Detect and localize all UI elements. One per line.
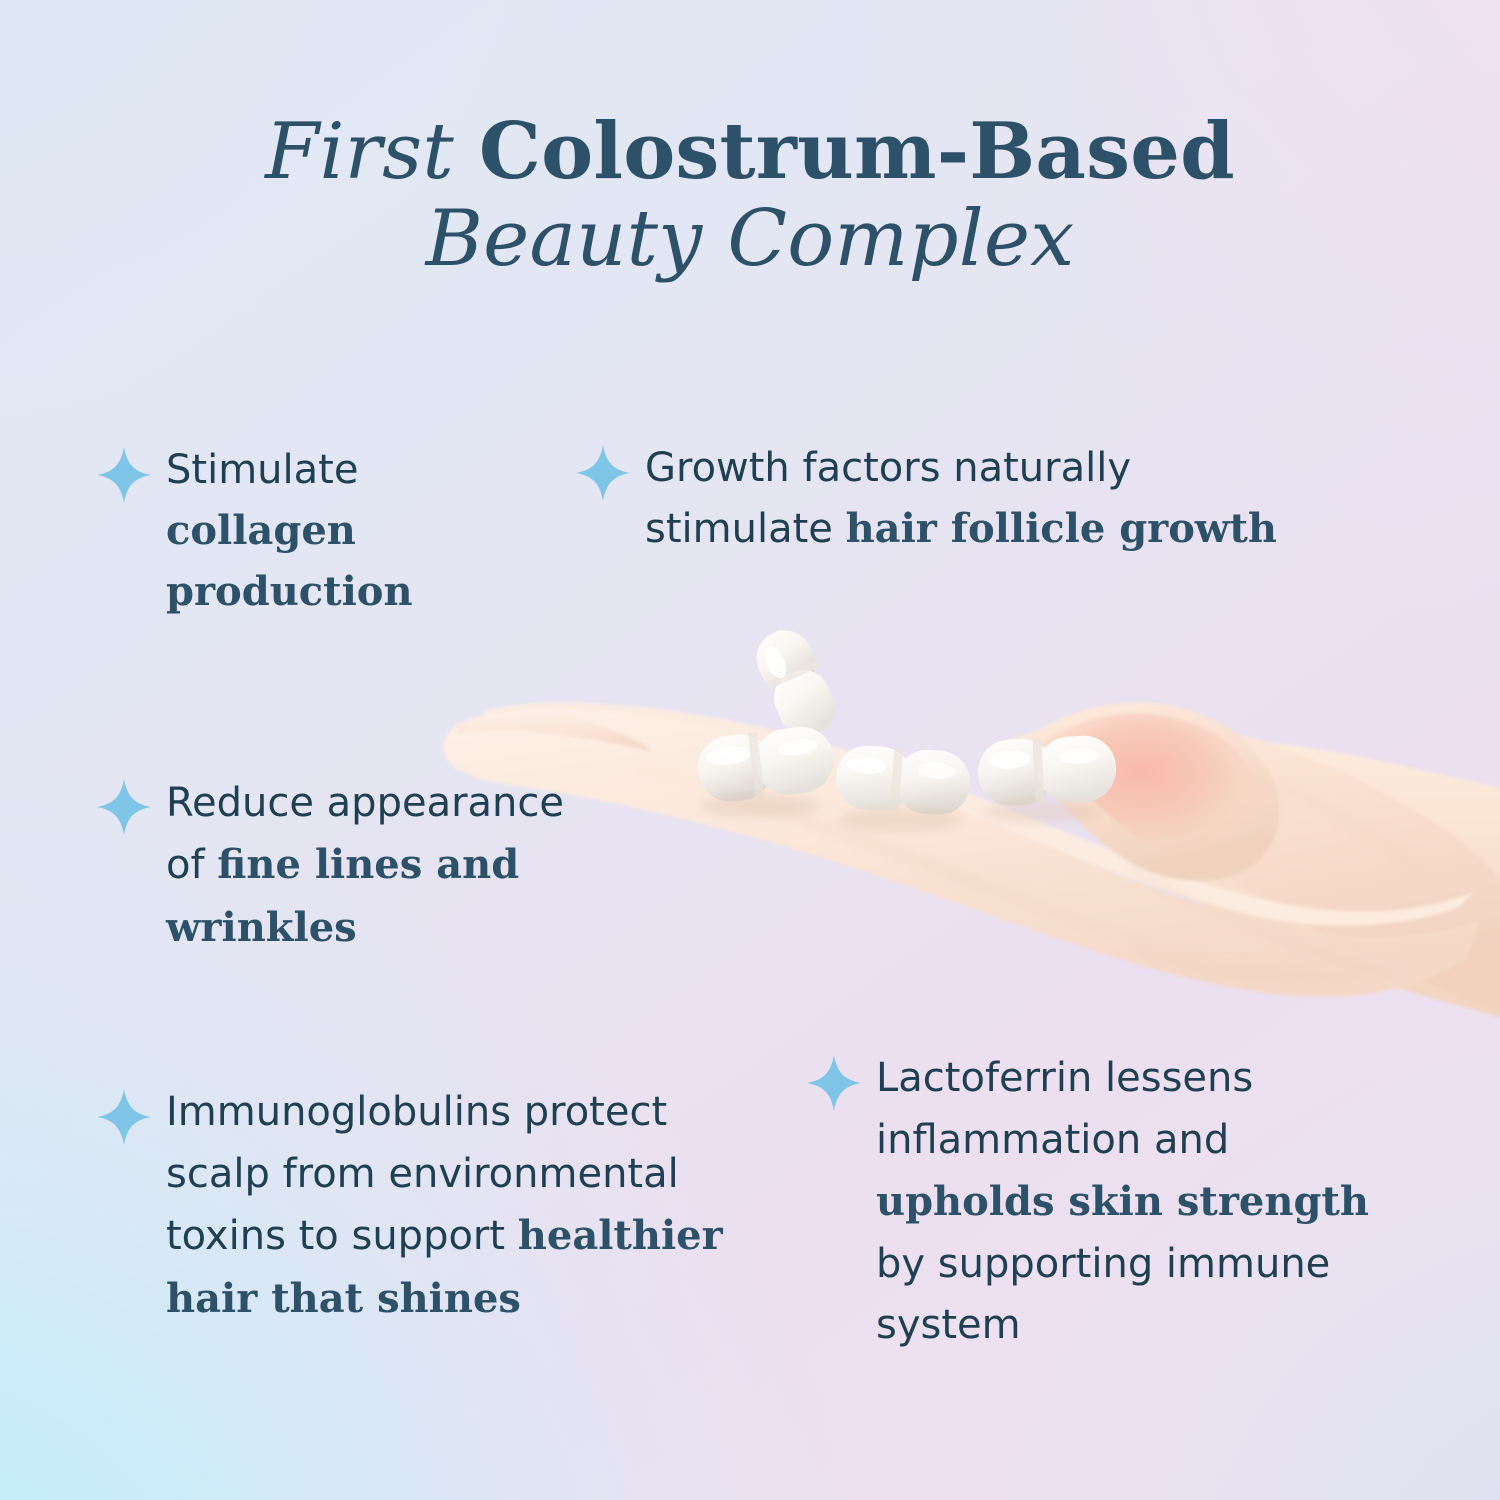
page-title-words-beauty-complex: Beauty Complex (426, 194, 1075, 284)
benefit-item-collagen-production: Stimulate collagen production (96, 440, 516, 622)
benefit-text: Growth factors naturally stimulate hair … (645, 438, 1295, 560)
page-title-word-first: First (265, 107, 479, 197)
benefit-text-emphasis: hair follicle growth (846, 505, 1277, 552)
sparkle-icon (96, 446, 152, 504)
sparkle-icon (96, 778, 152, 836)
benefit-text-emphasis: upholds skin strength (876, 1178, 1369, 1225)
benefit-text: Stimulate collagen production (166, 440, 516, 622)
benefit-item-hair-follicle-growth: Growth factors naturally stimulate hair … (575, 438, 1295, 560)
page-title: First Colostrum-Based Beauty Complex (0, 108, 1500, 284)
page-title-word-colostrum-based: Colostrum-Based (479, 106, 1235, 197)
benefit-text-emphasis: fine lines and wrinkles (166, 841, 519, 950)
benefit-item-skin-strength: Lactoferrin lessens inflammation and uph… (806, 1048, 1376, 1357)
benefit-item-healthier-hair: Immunoglobulins protect scalp from envir… (96, 1082, 746, 1330)
infographic-canvas: First Colostrum-Based Beauty Complex (0, 0, 1500, 1500)
benefit-text: Lactoferrin lessens inflammation and uph… (876, 1048, 1376, 1357)
benefit-text-emphasis: collagen production (166, 507, 413, 615)
benefit-text: Reduce appearance of fine lines and wrin… (166, 772, 606, 959)
page-title-line-2: Beauty Complex (0, 196, 1500, 283)
benefit-text-tail: by supporting immune system (876, 1241, 1330, 1349)
page-title-line-1: First Colostrum-Based (0, 108, 1500, 196)
sparkle-icon (806, 1054, 862, 1112)
benefit-text-plain: Stimulate (166, 447, 358, 493)
benefit-text-plain: Lactoferrin lessens inflammation and (876, 1055, 1253, 1163)
benefit-item-fine-lines-wrinkles: Reduce appearance of fine lines and wrin… (96, 772, 606, 959)
benefit-text: Immunoglobulins protect scalp from envir… (166, 1082, 746, 1330)
sparkle-icon (96, 1088, 152, 1146)
sparkle-icon (575, 444, 631, 502)
